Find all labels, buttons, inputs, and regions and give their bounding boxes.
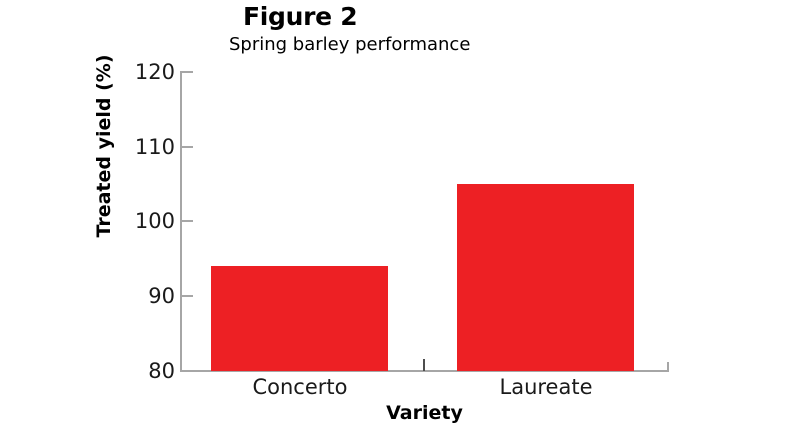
chart-subtitle: Spring barley performance: [229, 33, 470, 57]
x-tick-label-concerto: Concerto: [200, 375, 400, 399]
x-axis-title: Variety: [0, 402, 790, 424]
x-category-separator-tick: [423, 359, 425, 371]
y-tick-label-100: 100: [120, 211, 175, 232]
y-tick-label-90: 90: [120, 286, 175, 307]
figure-container: Figure 2 Spring barley performance Treat…: [0, 0, 790, 437]
y-tick-label-80: 80: [120, 361, 175, 382]
y-tick-label-120: 120: [120, 62, 175, 83]
y-axis-title: Treated yield (%): [93, 36, 115, 256]
bar-concerto[interactable]: [211, 266, 388, 371]
y-tick-label-110: 110: [120, 137, 175, 158]
chart-title: Figure 2: [243, 2, 357, 32]
bar-laureate[interactable]: [457, 184, 634, 371]
plot-area: [180, 72, 669, 371]
x-tick-label-laureate: Laureate: [446, 375, 646, 399]
